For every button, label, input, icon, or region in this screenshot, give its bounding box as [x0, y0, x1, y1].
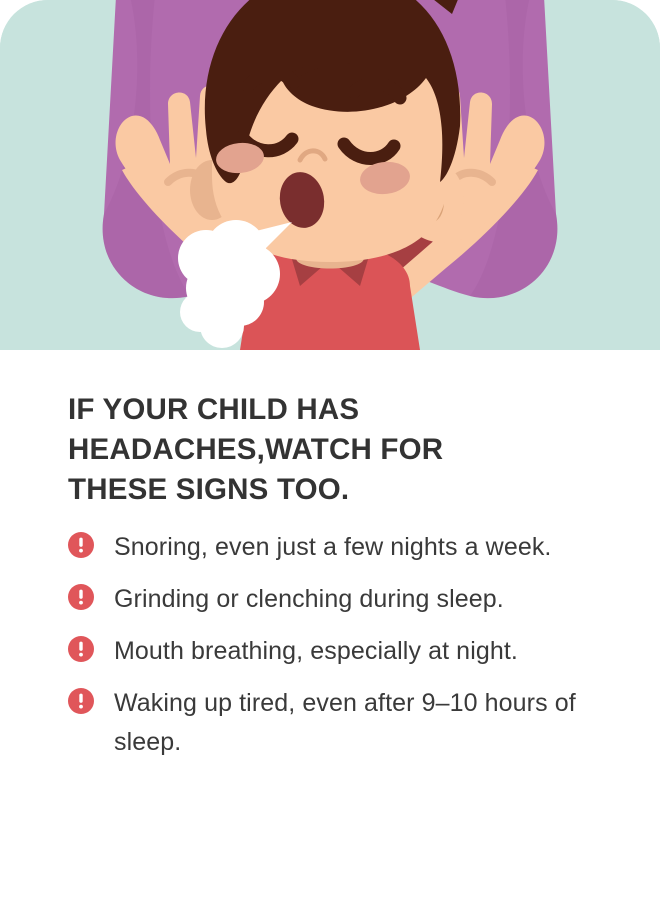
- list-item-label: Mouth breathing, especially at night.: [114, 632, 518, 671]
- list-item: Grinding or clenching during sleep.: [68, 580, 616, 619]
- content-panel: IF YOUR CHILD HAS HEADACHES,WATCH FOR TH…: [0, 350, 660, 762]
- page-title: IF YOUR CHILD HAS HEADACHES,WATCH FOR TH…: [68, 390, 538, 510]
- list-item: Mouth breathing, especially at night.: [68, 632, 616, 671]
- list-item: Waking up tired, even after 9–10 hours o…: [68, 684, 616, 762]
- alert-exclamation-icon: [68, 688, 94, 714]
- list-item-label: Grinding or clenching during sleep.: [114, 580, 504, 619]
- alert-exclamation-icon: [68, 636, 94, 662]
- list-item: Snoring, even just a few nights a week.: [68, 528, 616, 567]
- alert-exclamation-icon: [68, 584, 94, 610]
- info-card: IF YOUR CHILD HAS HEADACHES,WATCH FOR TH…: [0, 0, 660, 904]
- signs-list: Snoring, even just a few nights a week. …: [68, 528, 616, 762]
- list-item-label: Snoring, even just a few nights a week.: [114, 528, 551, 567]
- list-item-label: Waking up tired, even after 9–10 hours o…: [114, 684, 614, 762]
- sleeping-child-snoring-icon: [0, 0, 660, 350]
- illustration-panel: [0, 0, 660, 350]
- alert-exclamation-icon: [68, 532, 94, 558]
